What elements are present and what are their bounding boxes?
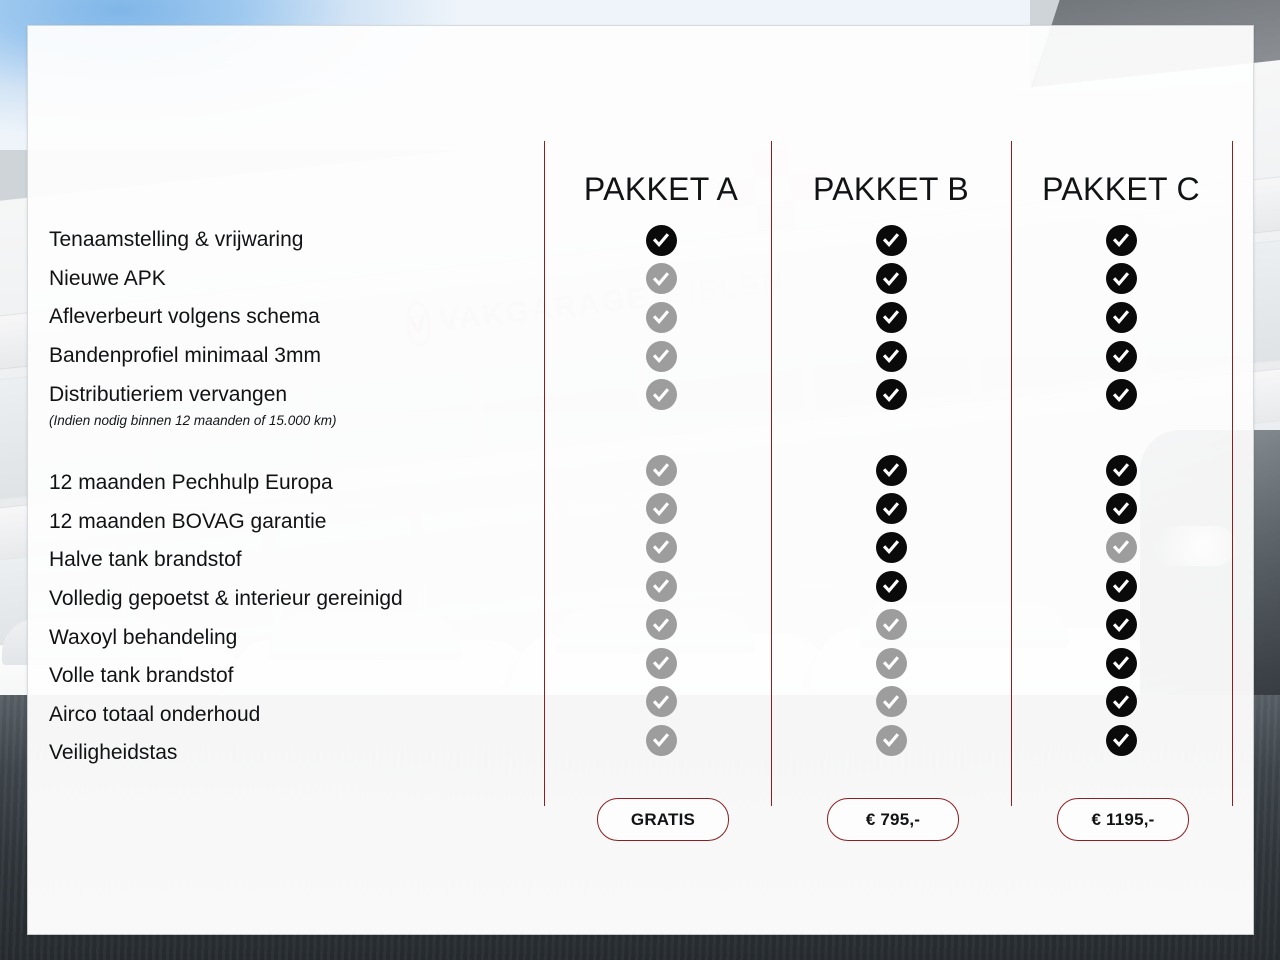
check-column-a-group1	[641, 221, 681, 414]
feature-label: Tenaamstelling & vrijwaring	[49, 221, 519, 260]
card-content: PAKKET A PAKKET B PAKKET C Tenaamstellin…	[28, 26, 1253, 934]
check-excluded-icon	[646, 379, 677, 410]
check-excluded-icon	[876, 686, 907, 717]
check-cell	[641, 451, 681, 490]
price-button-c[interactable]: € 1195,-	[1057, 798, 1189, 841]
check-included-icon	[876, 263, 907, 294]
check-cell	[871, 375, 911, 414]
column-divider-3	[1011, 141, 1012, 806]
check-excluded-icon	[646, 455, 677, 486]
group-spacer	[49, 432, 519, 464]
feature-label: Volle tank brandstof	[49, 657, 519, 696]
check-excluded-icon	[646, 532, 677, 563]
check-column-a-group2	[641, 451, 681, 760]
check-excluded-icon	[646, 493, 677, 524]
check-cell	[1101, 260, 1141, 299]
column-divider-1	[544, 141, 545, 806]
column-divider-2	[771, 141, 772, 806]
check-cell	[871, 567, 911, 606]
check-excluded-icon	[876, 725, 907, 756]
check-included-icon	[876, 571, 907, 602]
check-included-icon	[876, 302, 907, 333]
check-included-icon	[1106, 493, 1137, 524]
check-cell	[1101, 528, 1141, 567]
check-excluded-icon	[646, 609, 677, 640]
check-cell	[641, 490, 681, 529]
check-included-icon	[1106, 225, 1137, 256]
package-header-row: PAKKET A PAKKET B PAKKET C	[28, 160, 1253, 218]
check-included-icon	[1106, 571, 1137, 602]
feature-label-column: Tenaamstelling & vrijwaring Nieuwe APK A…	[49, 221, 519, 773]
check-cell	[1101, 221, 1141, 260]
check-cell	[871, 605, 911, 644]
feature-label: 12 maanden Pechhulp Europa	[49, 464, 519, 503]
check-cell	[871, 528, 911, 567]
check-included-icon	[1106, 686, 1137, 717]
price-button-b[interactable]: € 795,-	[827, 798, 959, 841]
check-included-icon	[876, 532, 907, 563]
check-included-icon	[1106, 609, 1137, 640]
feature-label: Veiligheidstas	[49, 734, 519, 773]
check-cell	[641, 721, 681, 760]
check-cell	[1101, 337, 1141, 376]
check-cell	[871, 298, 911, 337]
check-excluded-icon	[646, 686, 677, 717]
check-included-icon	[1106, 455, 1137, 486]
distributieriem-note: (Indien nodig binnen 12 maanden of 15.00…	[49, 410, 519, 432]
check-included-icon	[876, 225, 907, 256]
check-excluded-icon	[646, 263, 677, 294]
package-header-a: PAKKET A	[561, 160, 761, 218]
feature-label: Volledig gepoetst & interieur gereinigd	[49, 580, 519, 619]
column-divider-4	[1232, 141, 1233, 806]
feature-label: Distributieriem vervangen	[49, 375, 519, 414]
check-cell	[641, 683, 681, 722]
check-cell	[1101, 605, 1141, 644]
check-cell	[1101, 567, 1141, 606]
check-included-icon	[646, 225, 677, 256]
check-column-c-group1	[1101, 221, 1141, 414]
check-cell	[871, 260, 911, 299]
check-cell	[641, 221, 681, 260]
check-cell	[871, 221, 911, 260]
feature-label: 12 maanden BOVAG garantie	[49, 503, 519, 542]
check-cell	[871, 644, 911, 683]
check-cell	[641, 260, 681, 299]
feature-label: Afleverbeurt volgens schema	[49, 298, 519, 337]
check-cell	[1101, 644, 1141, 683]
check-included-icon	[876, 341, 907, 372]
check-included-icon	[876, 455, 907, 486]
check-cell	[871, 337, 911, 376]
check-cell	[641, 644, 681, 683]
price-button-a[interactable]: GRATIS	[597, 798, 729, 841]
check-cell	[871, 683, 911, 722]
pricing-comparison-card: PAKKET A PAKKET B PAKKET C Tenaamstellin…	[27, 25, 1254, 935]
check-excluded-icon	[646, 725, 677, 756]
check-included-icon	[876, 379, 907, 410]
check-cell	[1101, 721, 1141, 760]
feature-label: Airco totaal onderhoud	[49, 696, 519, 735]
check-excluded-icon	[646, 571, 677, 602]
check-cell	[871, 451, 911, 490]
check-included-icon	[1106, 341, 1137, 372]
check-cell	[641, 337, 681, 376]
feature-label: Nieuwe APK	[49, 260, 519, 299]
check-included-icon	[1106, 263, 1137, 294]
check-cell	[871, 490, 911, 529]
check-included-icon	[1106, 725, 1137, 756]
check-included-icon	[1106, 302, 1137, 333]
feature-label: Halve tank brandstof	[49, 541, 519, 580]
check-cell	[1101, 451, 1141, 490]
feature-label: Bandenprofiel minimaal 3mm	[49, 337, 519, 376]
check-excluded-icon	[646, 302, 677, 333]
check-cell	[1101, 683, 1141, 722]
check-included-icon	[876, 493, 907, 524]
check-cell	[871, 721, 911, 760]
check-column-b-group1	[871, 221, 911, 414]
check-cell	[641, 298, 681, 337]
check-excluded-icon	[1106, 532, 1137, 563]
check-excluded-icon	[876, 648, 907, 679]
check-included-icon	[1106, 648, 1137, 679]
feature-label: Waxoyl behandeling	[49, 618, 519, 657]
check-excluded-icon	[646, 648, 677, 679]
check-column-b-group2	[871, 451, 911, 760]
check-cell	[641, 605, 681, 644]
check-cell	[1101, 375, 1141, 414]
check-excluded-icon	[646, 341, 677, 372]
check-column-c-group2	[1101, 451, 1141, 760]
check-cell	[641, 567, 681, 606]
check-cell	[641, 375, 681, 414]
check-cell	[1101, 490, 1141, 529]
check-cell	[641, 528, 681, 567]
check-excluded-icon	[876, 609, 907, 640]
package-header-c: PAKKET C	[1021, 160, 1221, 218]
package-header-b: PAKKET B	[791, 160, 991, 218]
check-cell	[1101, 298, 1141, 337]
check-included-icon	[1106, 379, 1137, 410]
